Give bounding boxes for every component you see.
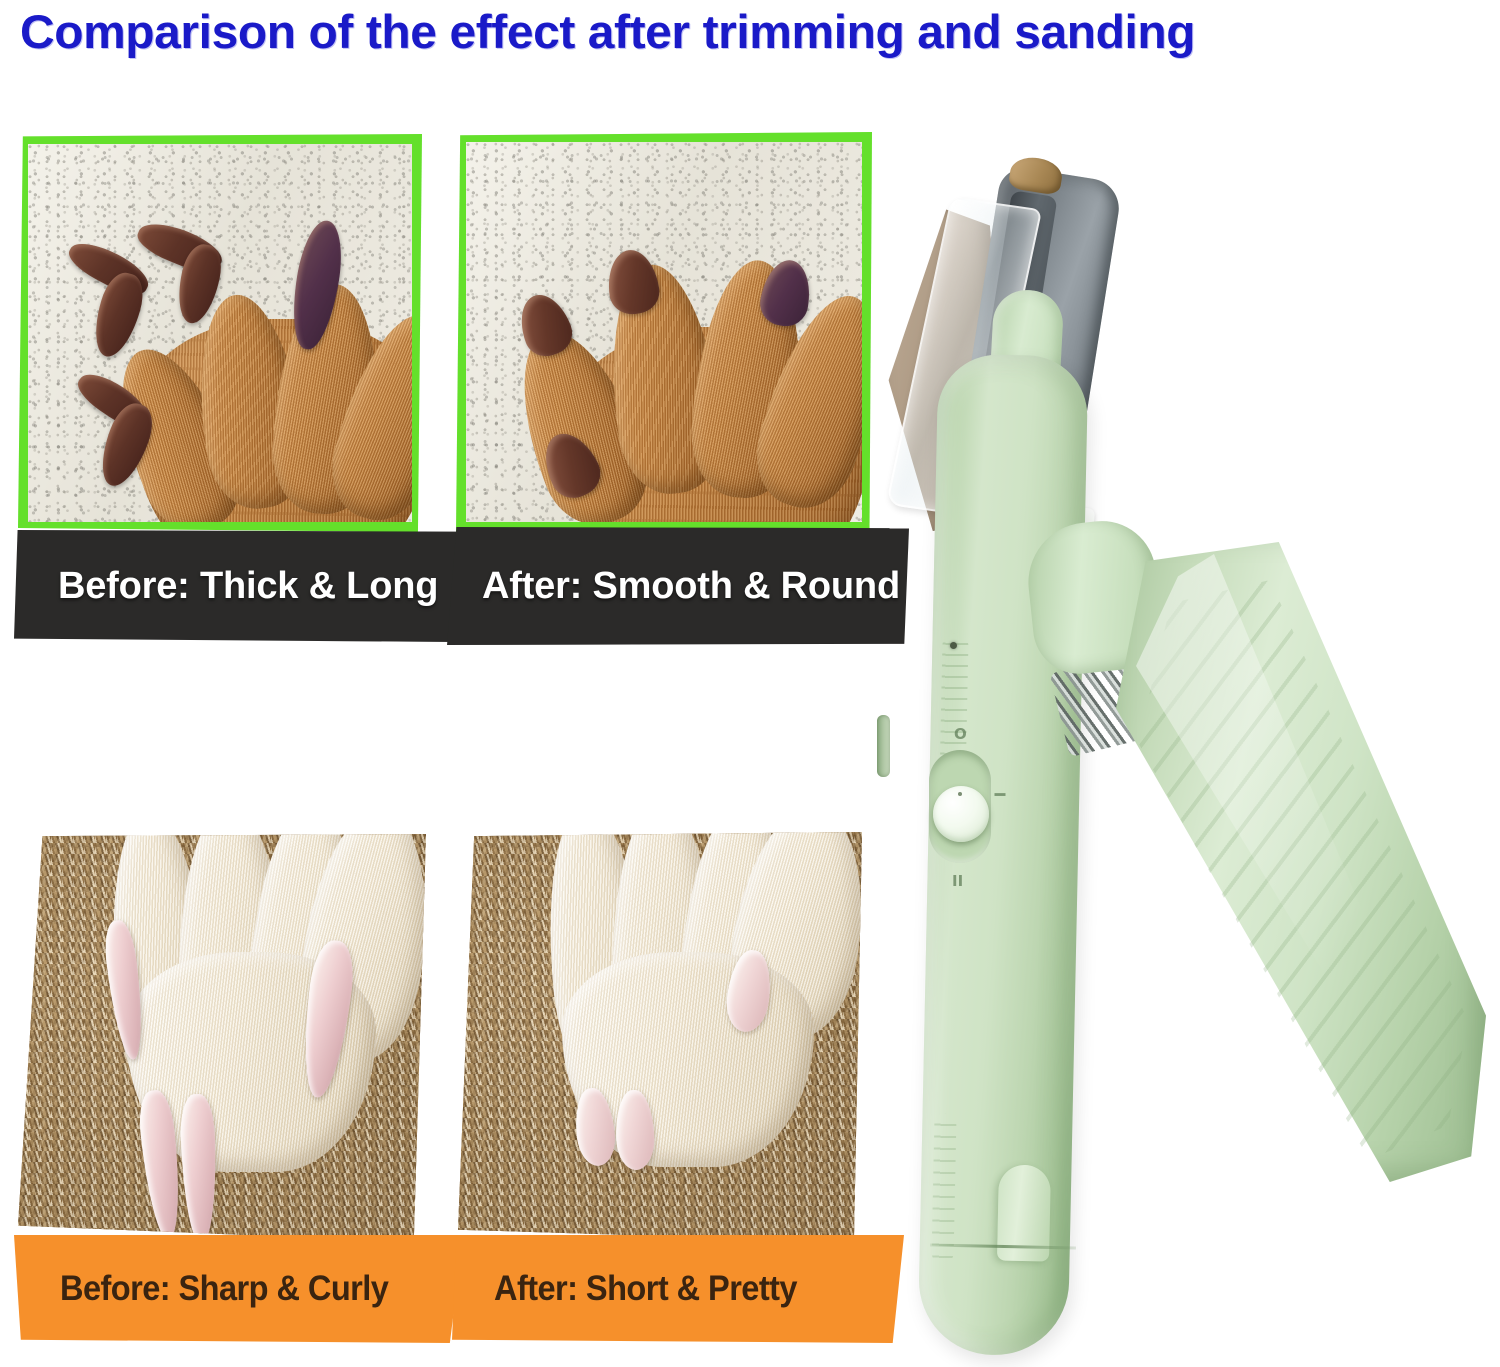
caption-brown-paw-before: Before: Thick & Long (14, 530, 462, 642)
led-indicator-icon (950, 642, 957, 649)
switch-off-marking: O (954, 725, 967, 743)
caption-text: Before: Sharp & Curly (60, 1269, 439, 1309)
switch-speed1-marking: I (990, 792, 1008, 799)
product-nail-grinder: O I II (880, 150, 1500, 1350)
side-vent-slot (877, 715, 890, 777)
photo-brown-paw-after (456, 132, 872, 532)
caption-text: Before: Thick & Long (58, 565, 462, 608)
caption-white-paw-after: After: Short & Pretty (452, 1235, 904, 1343)
knob-dot-icon (958, 792, 962, 796)
caption-text: After: Short & Pretty (494, 1269, 875, 1309)
switch-speed2-marking: II (952, 872, 963, 890)
page-title: Comparison of the effect after trimming … (20, 2, 1500, 64)
caption-brown-paw-after: After: Smooth & Round (440, 527, 909, 645)
photo-white-paw-before (18, 832, 426, 1242)
caption-white-paw-before: Before: Sharp & Curly (14, 1235, 468, 1343)
caption-text: After: Smooth & Round (482, 565, 909, 608)
grip-ribs-lower (931, 1114, 956, 1264)
photo-white-paw-after (458, 832, 862, 1242)
photo-brown-paw-before (18, 134, 422, 532)
